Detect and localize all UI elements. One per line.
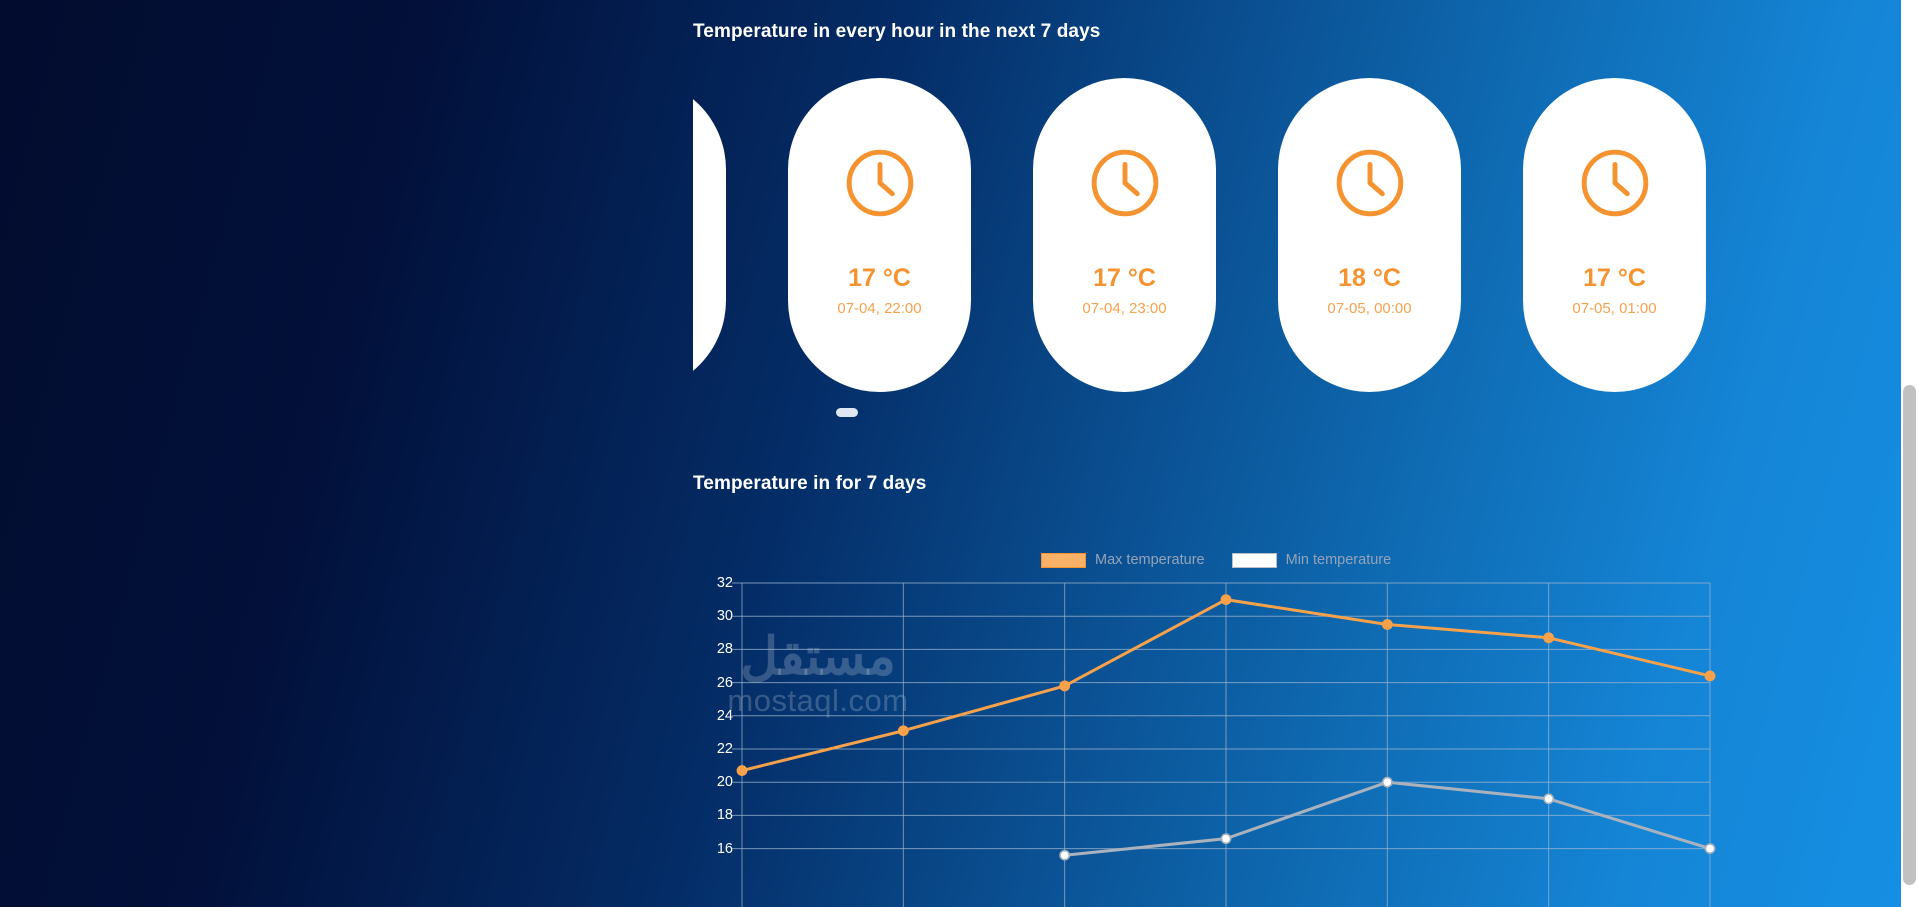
chart-plot-area: 323028262422201816 <box>693 540 1718 907</box>
chart-data-point[interactable] <box>1383 778 1392 787</box>
chart-data-point[interactable] <box>1383 620 1392 629</box>
chart-svg <box>693 540 1718 907</box>
hour-card-timestamp: 07-05, 00:00 <box>1327 300 1411 317</box>
chart-data-point[interactable] <box>1221 834 1230 843</box>
hour-card-timestamp: 07-04, 23:00 <box>1082 300 1166 317</box>
clock-icon <box>1088 146 1162 220</box>
chart-data-point[interactable] <box>1060 681 1069 690</box>
clock-icon <box>843 146 917 220</box>
hour-card-temperature: 17 °C <box>848 264 911 293</box>
hour-card[interactable]: 18 °C07-05, 00:00 <box>1278 78 1461 392</box>
hour-card-timestamp: 07-05, 01:00 <box>1572 300 1656 317</box>
chart-data-point[interactable] <box>1221 595 1230 604</box>
hourly-carousel-scrollbar[interactable] <box>693 408 1746 417</box>
page-scrollbar-thumb[interactable] <box>1903 385 1916 885</box>
weather-dashboard: Temperature in every hour in the next 7 … <box>0 0 1918 907</box>
weekly-temperature-chart: Max temperature Min temperature 32302826… <box>693 540 1718 907</box>
chart-data-point[interactable] <box>899 726 908 735</box>
clock-icon <box>1578 146 1652 220</box>
hour-card-timestamp: 07-04, 22:00 <box>837 300 921 317</box>
chart-data-point[interactable] <box>737 766 746 775</box>
hour-card[interactable]: 17 °C07-04, 21:00 <box>693 78 726 392</box>
hour-card[interactable]: 17 °C07-04, 22:00 <box>788 78 971 392</box>
weekly-section-title: Temperature in for 7 days <box>693 473 926 495</box>
hourly-cards-carousel[interactable]: 17 °C07-04, 21:0017 °C07-04, 22:0017 °C0… <box>693 78 1746 392</box>
hour-card-temperature: 17 °C <box>1093 264 1156 293</box>
chart-data-point[interactable] <box>1705 671 1714 680</box>
clock-icon <box>1333 146 1407 220</box>
chart-data-point[interactable] <box>1060 851 1069 860</box>
chart-data-point[interactable] <box>1705 844 1714 853</box>
hour-card-temperature: 17 °C <box>1583 264 1646 293</box>
hourly-carousel-scrollbar-thumb[interactable] <box>836 408 858 417</box>
hour-card-temperature: 18 °C <box>1338 264 1401 293</box>
page-scrollbar[interactable] <box>1901 0 1918 907</box>
hour-card[interactable]: 17 °C07-05, 01:00 <box>1523 78 1706 392</box>
chart-data-point[interactable] <box>1544 633 1553 642</box>
hourly-section-title: Temperature in every hour in the next 7 … <box>693 21 1100 43</box>
hour-card[interactable]: 17 °C07-04, 23:00 <box>1033 78 1216 392</box>
hourly-cards-track: 17 °C07-04, 21:0017 °C07-04, 22:0017 °C0… <box>693 78 1746 392</box>
chart-data-point[interactable] <box>1544 794 1553 803</box>
